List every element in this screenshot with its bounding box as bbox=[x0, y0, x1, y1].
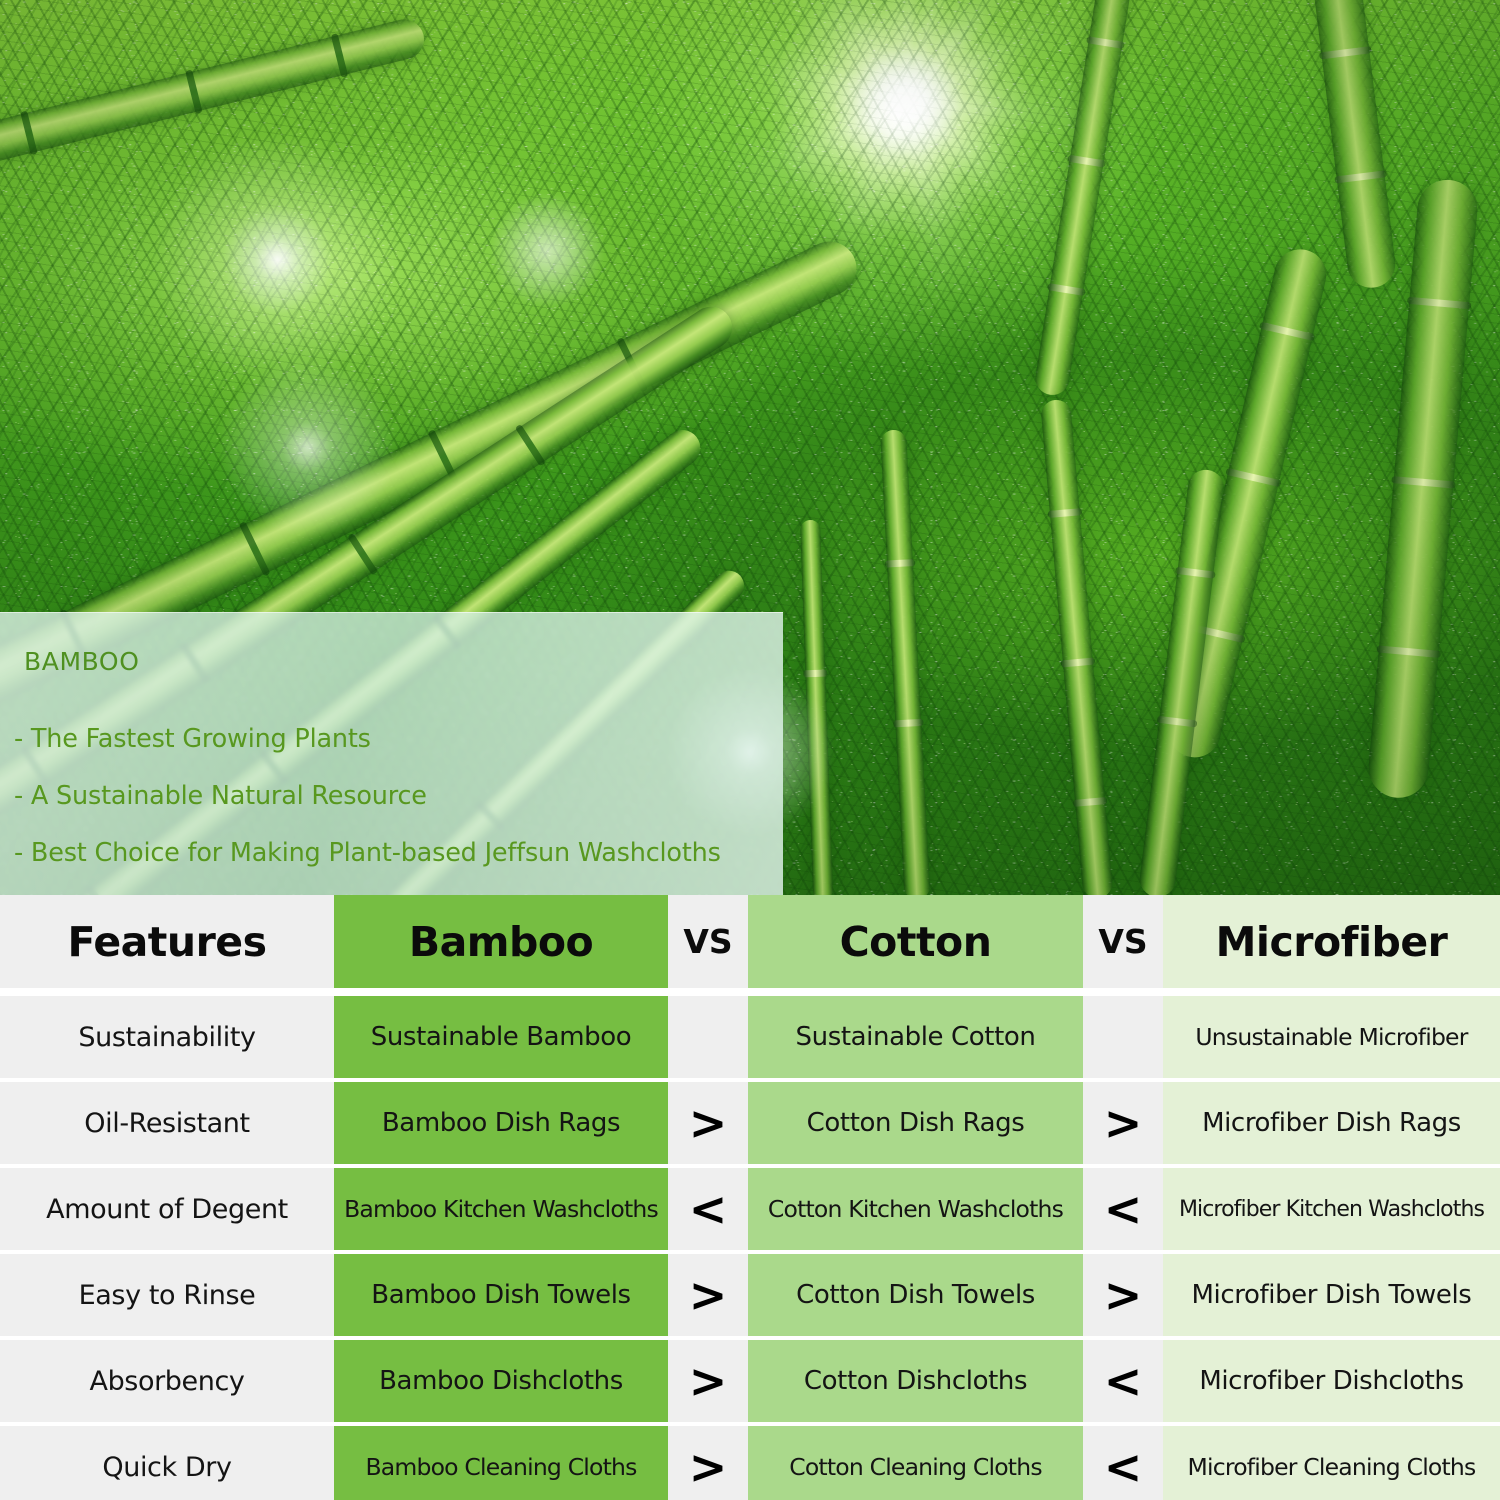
row-cotton-cell: Cotton Kitchen Washcloths bbox=[748, 1168, 1083, 1250]
cell-label: Microfiber Dish Towels bbox=[1192, 1280, 1472, 1310]
cell-label: Sustainable Cotton bbox=[796, 1022, 1036, 1052]
row-comparator-1: > bbox=[668, 1254, 748, 1336]
row-comparator-2: < bbox=[1083, 1168, 1163, 1250]
callout-bullet-2: - A Sustainable Natural Resource bbox=[14, 781, 783, 811]
row-microfiber-cell: Unsustainable Microfiber bbox=[1163, 996, 1500, 1078]
cell-label: Microfiber Dish Rags bbox=[1202, 1108, 1461, 1138]
table-row: Sustainability Sustainable Bamboo Sustai… bbox=[0, 996, 1500, 1078]
header-cell-vs-1: VS bbox=[668, 895, 748, 988]
header-cell-features: Features bbox=[0, 895, 334, 988]
comparator-symbol: > bbox=[689, 1100, 728, 1146]
row-microfiber-cell: Microfiber Dish Towels bbox=[1163, 1254, 1500, 1336]
row-feature-cell: Absorbency bbox=[0, 1340, 334, 1422]
row-comparator-2: < bbox=[1083, 1426, 1163, 1500]
row-bamboo-cell: Bamboo Dish Rags bbox=[334, 1082, 668, 1164]
comparator-symbol: > bbox=[1104, 1100, 1143, 1146]
header-cell-microfiber: Microfiber bbox=[1163, 895, 1500, 988]
row-comparator-2 bbox=[1083, 996, 1163, 1078]
row-comparator-1: > bbox=[668, 1340, 748, 1422]
row-cotton-cell: Cotton Cleaning Cloths bbox=[748, 1426, 1083, 1500]
cell-label: Easy to Rinse bbox=[79, 1280, 256, 1311]
row-feature-cell: Oil-Resistant bbox=[0, 1082, 334, 1164]
cell-label: Bamboo Dishcloths bbox=[379, 1366, 623, 1396]
comparator-symbol: < bbox=[1104, 1444, 1143, 1490]
row-microfiber-cell: Microfiber Kitchen Washcloths bbox=[1163, 1168, 1500, 1250]
cell-label: Unsustainable Microfiber bbox=[1195, 1023, 1467, 1051]
row-comparator-1: > bbox=[668, 1082, 748, 1164]
table-row: Absorbency Bamboo Dishcloths > Cotton Di… bbox=[0, 1340, 1500, 1422]
row-comparator-1: > bbox=[668, 1426, 748, 1500]
row-feature-cell: Easy to Rinse bbox=[0, 1254, 334, 1336]
comparator-symbol: < bbox=[1104, 1186, 1143, 1232]
header-label-cotton: Cotton bbox=[840, 918, 992, 966]
table-row: Quick Dry Bamboo Cleaning Cloths > Cotto… bbox=[0, 1426, 1500, 1500]
cell-label: Oil-Resistant bbox=[84, 1108, 249, 1139]
cell-label: Bamboo Dish Rags bbox=[382, 1108, 620, 1138]
header-label-microfiber: Microfiber bbox=[1216, 918, 1448, 966]
comparator-symbol: < bbox=[1104, 1358, 1143, 1404]
row-cotton-cell: Cotton Dishcloths bbox=[748, 1340, 1083, 1422]
row-cotton-cell: Sustainable Cotton bbox=[748, 996, 1083, 1078]
row-comparator-2: > bbox=[1083, 1254, 1163, 1336]
cell-label: Quick Dry bbox=[102, 1452, 231, 1483]
table-row: Easy to Rinse Bamboo Dish Towels > Cotto… bbox=[0, 1254, 1500, 1336]
row-microfiber-cell: Microfiber Dish Rags bbox=[1163, 1082, 1500, 1164]
cell-label: Sustainable Bamboo bbox=[371, 1022, 632, 1052]
header-label-bamboo: Bamboo bbox=[409, 918, 593, 966]
cell-label: Microfiber Kitchen Washcloths bbox=[1179, 1197, 1484, 1222]
row-comparator-1: < bbox=[668, 1168, 748, 1250]
row-cotton-cell: Cotton Dish Towels bbox=[748, 1254, 1083, 1336]
header-label-vs-1: VS bbox=[683, 922, 732, 961]
product-infographic: BAMBOO - The Fastest Growing Plants - A … bbox=[0, 0, 1500, 1500]
row-bamboo-cell: Bamboo Kitchen Washcloths bbox=[334, 1168, 668, 1250]
cell-label: Sustainability bbox=[78, 1022, 255, 1053]
header-cell-bamboo: Bamboo bbox=[334, 895, 668, 988]
table-row: Oil-Resistant Bamboo Dish Rags > Cotton … bbox=[0, 1082, 1500, 1164]
row-microfiber-cell: Microfiber Cleaning Cloths bbox=[1163, 1426, 1500, 1500]
cell-label: Microfiber Dishcloths bbox=[1199, 1366, 1463, 1396]
row-cotton-cell: Cotton Dish Rags bbox=[748, 1082, 1083, 1164]
row-feature-cell: Quick Dry bbox=[0, 1426, 334, 1500]
header-cell-cotton: Cotton bbox=[748, 895, 1083, 988]
row-comparator-2: < bbox=[1083, 1340, 1163, 1422]
cell-label: Cotton Dish Towels bbox=[796, 1280, 1035, 1310]
cell-label: Amount of Degent bbox=[46, 1194, 288, 1225]
row-bamboo-cell: Bamboo Dish Towels bbox=[334, 1254, 668, 1336]
row-bamboo-cell: Bamboo Dishcloths bbox=[334, 1340, 668, 1422]
cell-label: Bamboo Dish Towels bbox=[371, 1280, 630, 1310]
cell-label: Microfiber Cleaning Cloths bbox=[1188, 1453, 1476, 1481]
cell-label: Cotton Kitchen Washcloths bbox=[768, 1195, 1063, 1223]
cell-label: Absorbency bbox=[90, 1366, 245, 1397]
cell-label: Bamboo Kitchen Washcloths bbox=[344, 1195, 658, 1223]
comparator-symbol: < bbox=[689, 1186, 728, 1232]
cell-label: Cotton Dish Rags bbox=[807, 1108, 1025, 1138]
cell-label: Cotton Dishcloths bbox=[804, 1366, 1027, 1396]
header-cell-vs-2: VS bbox=[1083, 895, 1163, 988]
table-row: Amount of Degent Bamboo Kitchen Washclot… bbox=[0, 1168, 1500, 1250]
comparator-symbol: > bbox=[689, 1358, 728, 1404]
row-feature-cell: Sustainability bbox=[0, 996, 334, 1078]
callout-bullet-3: - Best Choice for Making Plant-based Jef… bbox=[14, 838, 783, 868]
row-bamboo-cell: Sustainable Bamboo bbox=[334, 996, 668, 1078]
comparator-symbol: > bbox=[1104, 1272, 1143, 1318]
row-feature-cell: Amount of Degent bbox=[0, 1168, 334, 1250]
comparison-table: Features Bamboo VS Cotton VS Microfiber … bbox=[0, 895, 1500, 1500]
header-label-features: Features bbox=[67, 918, 266, 966]
callout-title: BAMBOO bbox=[14, 647, 783, 676]
row-bamboo-cell: Bamboo Cleaning Cloths bbox=[334, 1426, 668, 1500]
callout-bullet-1: - The Fastest Growing Plants bbox=[14, 724, 783, 754]
row-microfiber-cell: Microfiber Dishcloths bbox=[1163, 1340, 1500, 1422]
cell-label: Cotton Cleaning Cloths bbox=[789, 1453, 1042, 1481]
row-comparator-2: > bbox=[1083, 1082, 1163, 1164]
row-comparator-1 bbox=[668, 996, 748, 1078]
cell-label: Bamboo Cleaning Cloths bbox=[365, 1453, 636, 1481]
comparator-symbol: > bbox=[689, 1272, 728, 1318]
header-label-vs-2: VS bbox=[1098, 922, 1147, 961]
bamboo-callout-panel: BAMBOO - The Fastest Growing Plants - A … bbox=[0, 612, 783, 895]
comparator-symbol: > bbox=[689, 1444, 728, 1490]
table-header-row: Features Bamboo VS Cotton VS Microfiber bbox=[0, 895, 1500, 988]
